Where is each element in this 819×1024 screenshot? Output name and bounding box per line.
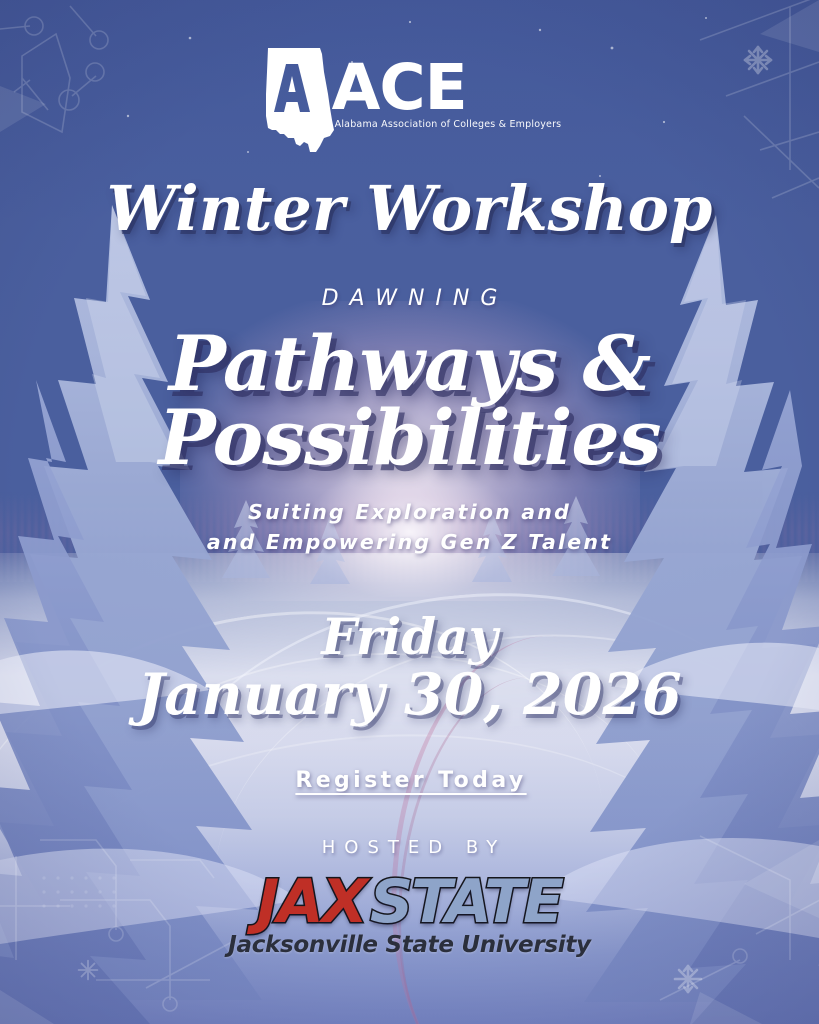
jax-state-wordmark: JAXSTATE xyxy=(228,872,591,932)
headline: Pathways & Possibilities xyxy=(158,327,660,474)
winter-workshop-poster: ACE Alabama Association of Colleges & Em… xyxy=(0,0,819,1024)
alabama-state-outline-icon xyxy=(258,46,336,154)
state-word: STATE xyxy=(370,867,562,937)
event-date: Friday January 30, 2026 xyxy=(137,610,681,728)
poster-content: ACE Alabama Association of Colleges & Em… xyxy=(0,0,819,1024)
headline-line-2: Possibilities xyxy=(158,401,660,475)
aace-logo: ACE Alabama Association of Colleges & Em… xyxy=(258,46,562,154)
jax-state-logo: JAXSTATE Jacksonville State University xyxy=(228,872,591,957)
aace-acronym: ACE xyxy=(332,62,562,114)
register-today-link[interactable]: Register Today xyxy=(292,768,526,793)
aace-tagline: Alabama Association of Colleges & Employ… xyxy=(335,119,562,130)
university-full-name: Jacksonville State University xyxy=(228,934,591,957)
subtitle-line-1: Suiting Exploration and xyxy=(207,498,612,528)
event-date-day: Friday xyxy=(137,610,681,663)
eyebrow-text: DAWNING xyxy=(311,286,509,311)
subtitle: Suiting Exploration and and Empowering G… xyxy=(207,498,612,557)
event-date-full: January 30, 2026 xyxy=(137,663,681,728)
event-title: Winter Workshop xyxy=(107,178,713,240)
subtitle-line-2: and Empowering Gen Z Talent xyxy=(207,528,612,558)
jax-word: JAX xyxy=(257,867,366,937)
aace-logo-text: ACE Alabama Association of Colleges & Em… xyxy=(332,62,562,130)
hosted-by-label: HOSTED BY xyxy=(313,837,506,858)
